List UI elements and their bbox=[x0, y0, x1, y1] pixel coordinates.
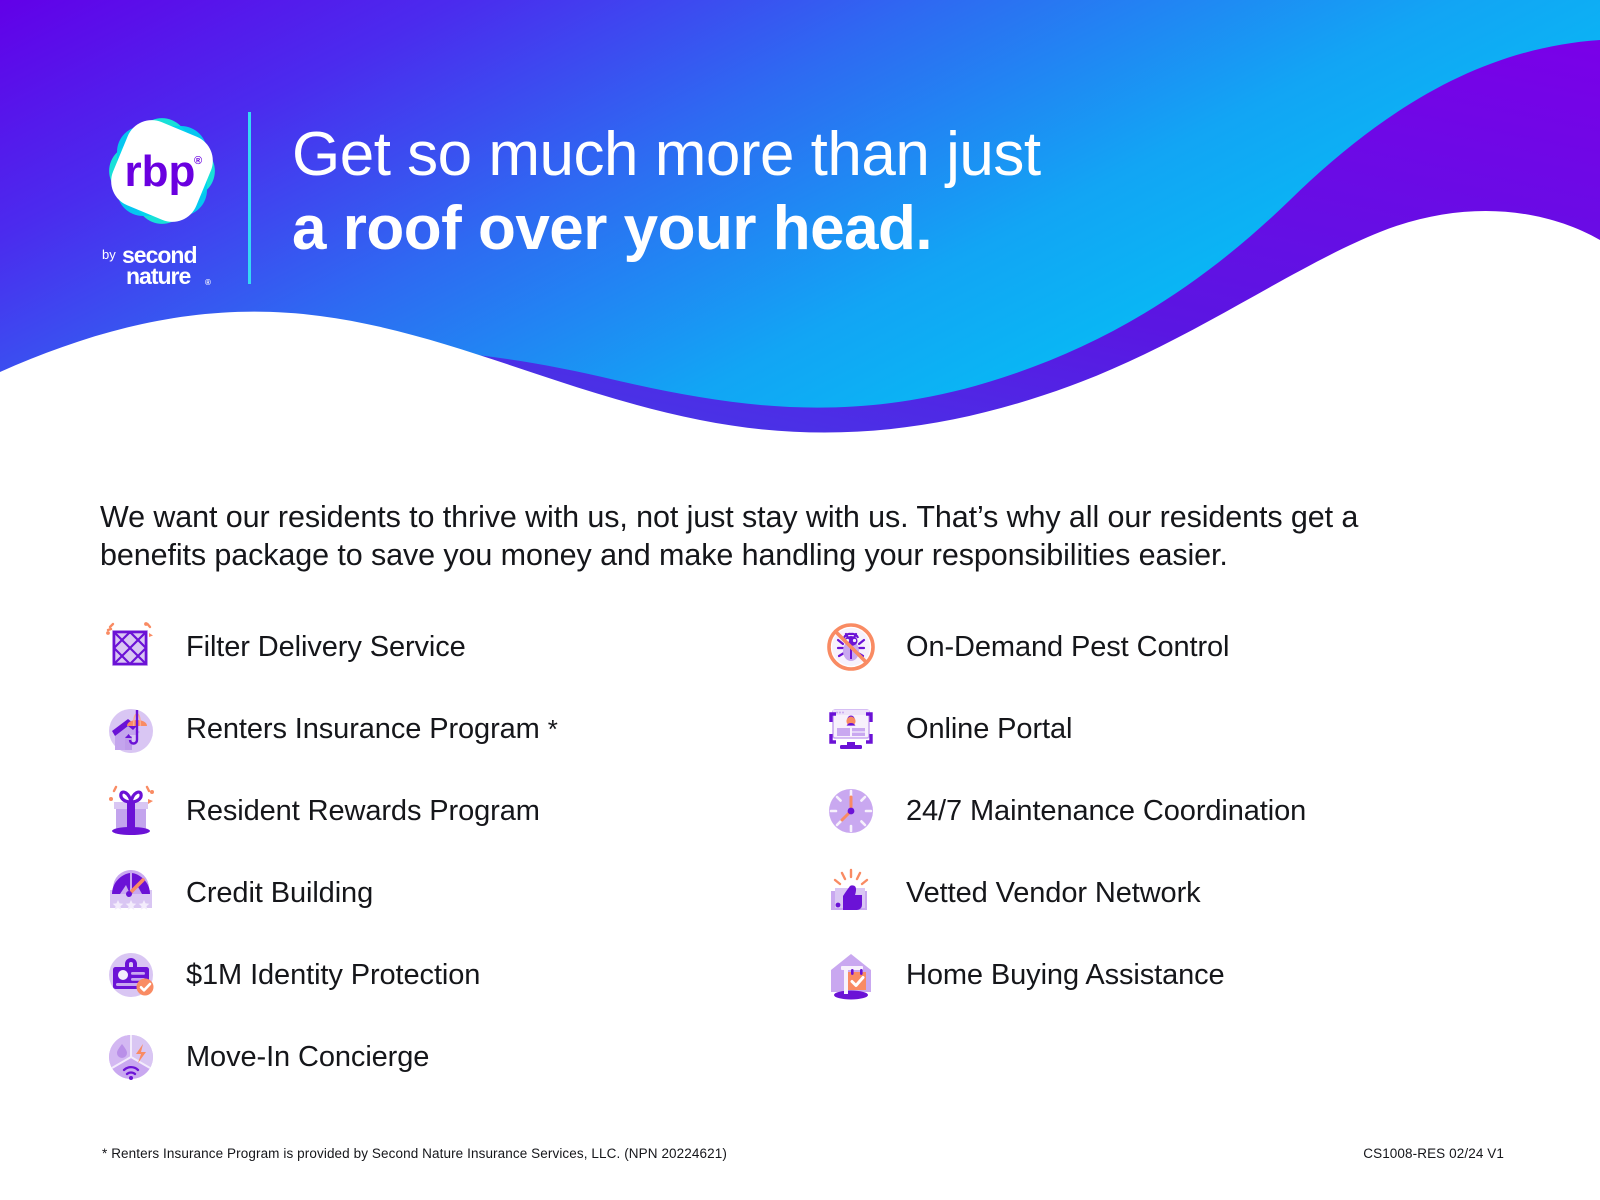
no-pest-icon bbox=[820, 616, 882, 678]
headline-line-1: Get so much more than just bbox=[292, 118, 1192, 192]
benefit-label: Online Portal bbox=[906, 713, 1072, 746]
benefit-label: $1M Identity Protection bbox=[186, 959, 480, 992]
benefit-label: Resident Rewards Program bbox=[186, 795, 540, 828]
benefits-column-left: Filter Delivery Service bbox=[100, 606, 820, 1098]
air-filter-icon bbox=[100, 616, 162, 678]
benefit-online-portal: Online Portal bbox=[820, 688, 1520, 770]
rbp-registered-mark: ® bbox=[194, 155, 202, 167]
brand-registered-mark: ® bbox=[205, 278, 211, 287]
second-nature-logo: by second nature ® bbox=[100, 242, 224, 290]
rbp-wordmark: rbp bbox=[125, 147, 196, 196]
footer-doc-code: CS1008-RES 02/24 V1 bbox=[1363, 1146, 1504, 1161]
benefit-renters-insurance-program: Renters Insurance Program * bbox=[100, 688, 820, 770]
utilities-wifi-icon bbox=[100, 1026, 162, 1088]
brand-nature: nature bbox=[126, 263, 191, 289]
clock-icon bbox=[820, 780, 882, 842]
benefit-home-buying-assistance: Home Buying Assistance bbox=[820, 934, 1520, 1016]
benefit-label: Renters Insurance Program * bbox=[186, 713, 558, 746]
benefit-label: Home Buying Assistance bbox=[906, 959, 1225, 992]
benefit-resident-rewards-program: Resident Rewards Program bbox=[100, 770, 820, 852]
benefits-list: Filter Delivery Service bbox=[100, 606, 1520, 1098]
hero-banner: rbp ® by second nature ® Get so much mor… bbox=[0, 0, 1600, 480]
benefit-maintenance-coordination: 24/7 Maintenance Coordination bbox=[820, 770, 1520, 852]
house-sign-check-icon bbox=[820, 944, 882, 1006]
desktop-portal-icon bbox=[820, 698, 882, 760]
benefit-credit-building: Credit Building bbox=[100, 852, 820, 934]
benefit-label: Vetted Vendor Network bbox=[906, 877, 1201, 910]
credit-score-stars-icon bbox=[100, 862, 162, 924]
id-badge-check-icon bbox=[100, 944, 162, 1006]
benefit-label: Move-In Concierge bbox=[186, 1041, 429, 1074]
umbrella-house-icon bbox=[100, 698, 162, 760]
rbp-logo-lockup: rbp ® by second nature ® bbox=[96, 112, 228, 290]
intro-paragraph: We want our residents to thrive with us,… bbox=[100, 498, 1440, 574]
benefit-identity-protection: $1M Identity Protection bbox=[100, 934, 820, 1016]
benefit-label: On-Demand Pest Control bbox=[906, 631, 1229, 664]
benefit-filter-delivery-service: Filter Delivery Service bbox=[100, 606, 820, 688]
benefits-column-right: On-Demand Pest Control bbox=[820, 606, 1520, 1098]
footnote-asterisk: * bbox=[548, 714, 558, 744]
rbp-logo-mark: rbp ® bbox=[103, 112, 221, 230]
hero-divider bbox=[248, 112, 251, 284]
hero-headline: Get so much more than just a roof over y… bbox=[292, 118, 1192, 266]
byline-by: by bbox=[102, 247, 116, 262]
benefit-move-in-concierge: Move-In Concierge bbox=[100, 1016, 820, 1098]
benefit-label: Filter Delivery Service bbox=[186, 631, 466, 664]
headline-line-2: a roof over your head. bbox=[292, 192, 1192, 266]
benefit-label: 24/7 Maintenance Coordination bbox=[906, 795, 1306, 828]
gift-box-icon bbox=[100, 780, 162, 842]
benefit-vetted-vendor-network: Vetted Vendor Network bbox=[820, 852, 1520, 934]
footer-disclaimer: * Renters Insurance Program is provided … bbox=[102, 1146, 727, 1161]
marketing-flyer: rbp ® by second nature ® Get so much mor… bbox=[0, 0, 1600, 1200]
benefit-label: Credit Building bbox=[186, 877, 373, 910]
benefit-pest-control: On-Demand Pest Control bbox=[820, 606, 1520, 688]
rbp-badge-icon: rbp ® bbox=[103, 112, 221, 230]
thumbs-up-icon bbox=[820, 862, 882, 924]
second-nature-byline: by second nature ® bbox=[100, 242, 224, 290]
